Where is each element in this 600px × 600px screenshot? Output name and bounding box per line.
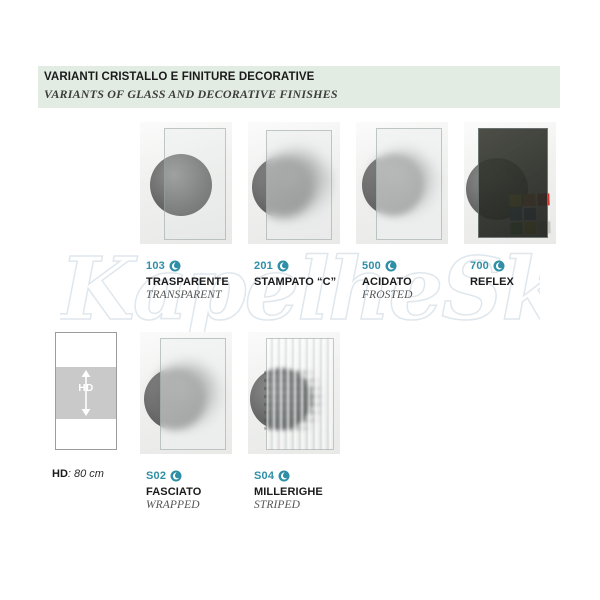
sample-image-millerighe[interactable] [248, 332, 340, 454]
glass-pane-wrapped [160, 338, 226, 450]
finish-label-reflex: 700 REFLEX [470, 258, 580, 289]
finish-label-fasciato: S02 FASCIATO WRAPPED [146, 468, 256, 511]
finish-code: 500 [362, 260, 381, 272]
finish-code: 700 [470, 260, 489, 272]
finish-code-row: S02 [146, 468, 256, 483]
drop-icon [385, 260, 397, 272]
sample-image-reflex[interactable] [464, 122, 556, 244]
finish-code: S04 [254, 470, 274, 482]
glass-pane-printed-c [266, 130, 332, 240]
page-title: VARIANTI CRISTALLO E FINITURE DECORATIVE [44, 71, 314, 83]
drop-icon [493, 260, 505, 272]
finish-code: S02 [146, 470, 166, 482]
drop-icon [277, 260, 289, 272]
drop-icon [278, 470, 290, 482]
finish-code-row: S04 [254, 468, 364, 483]
finish-code-row: 103 [146, 258, 256, 273]
finish-code-row: 201 [254, 258, 364, 273]
glass-pane-reflex [478, 128, 548, 238]
hd-caption-value: : 80 cm [68, 468, 104, 480]
hd-band-label: HD [78, 383, 93, 394]
finish-name: MILLERIGHE [254, 486, 364, 498]
sample-image-fasciato[interactable] [140, 332, 232, 454]
finish-name: STAMPATO “C” [254, 276, 364, 288]
finish-alt-name: STRIPED [254, 499, 364, 511]
hd-caption: HD: 80 cm [52, 468, 104, 480]
drop-icon [169, 260, 181, 272]
finish-code: 201 [254, 260, 273, 272]
glass-pane-frosted [376, 128, 442, 240]
sample-image-trasparente[interactable] [140, 122, 232, 244]
finish-alt-name: WRAPPED [146, 499, 256, 511]
finish-alt-name: TRANSPARENT [146, 289, 256, 301]
finish-name: ACIDATO [362, 276, 472, 288]
hd-caption-label: HD [52, 468, 68, 480]
finish-label-millerighe: S04 MILLERIGHE STRIPED [254, 468, 364, 511]
page-subtitle: VARIANTS OF GLASS AND DECORATIVE FINISHE… [44, 87, 338, 102]
finish-code-row: 700 [470, 258, 580, 273]
drop-icon [170, 470, 182, 482]
glass-pane-striped [266, 338, 334, 450]
hd-diagram: HD [55, 332, 117, 450]
finish-label-trasparente: 103 TRASPARENTE TRANSPARENT [146, 258, 256, 301]
sample-image-stampato-c[interactable] [248, 122, 340, 244]
finish-label-stampato-c: 201 STAMPATO “C” [254, 258, 364, 289]
finish-name: REFLEX [470, 276, 580, 288]
sample-image-acidato[interactable] [356, 122, 448, 244]
finish-code-row: 500 [362, 258, 472, 273]
finish-label-acidato: 500 ACIDATO FROSTED [362, 258, 472, 301]
finish-code: 103 [146, 260, 165, 272]
section-header-band: VARIANTI CRISTALLO E FINITURE DECORATIVE… [38, 66, 560, 108]
page-root: KapelheSk VARIANTI CRISTALLO E FINITURE … [0, 0, 600, 600]
finish-alt-name: FROSTED [362, 289, 472, 301]
finish-name: FASCIATO [146, 486, 256, 498]
glass-pane-clear [164, 128, 226, 240]
finish-name: TRASPARENTE [146, 276, 256, 288]
